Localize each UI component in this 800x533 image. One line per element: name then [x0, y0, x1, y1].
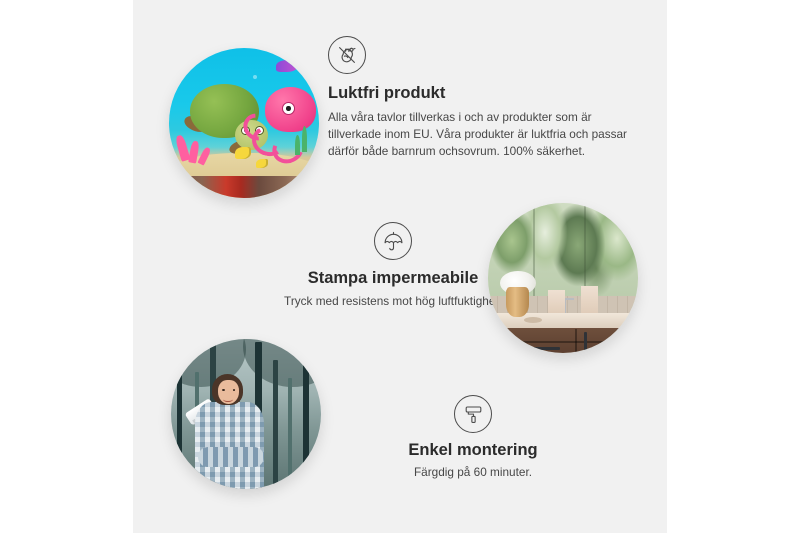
seaweed: [302, 126, 307, 152]
no-fragrance-icon: [328, 36, 366, 74]
person-smile: [223, 396, 234, 402]
bubble-icon: [253, 75, 257, 79]
underwater-cartoon-image: [169, 48, 319, 198]
octopus-eye: [282, 102, 295, 115]
person-folded-arms: [198, 447, 264, 467]
feature-icon-wrapper: [328, 395, 618, 433]
person-eye: [222, 389, 225, 391]
tree-trunk: [273, 360, 278, 489]
gold-vase: [506, 287, 529, 317]
tree-trunk: [303, 348, 309, 489]
purple-fish-icon: [276, 60, 299, 72]
tree-trunk: [177, 351, 182, 489]
painter-forest-image: [171, 339, 321, 489]
umbrella-icon: [374, 222, 412, 260]
paint-roller-icon: [454, 395, 492, 433]
person-plaid-shirt: [195, 402, 264, 489]
underwater-cartoon-disc: [169, 48, 319, 198]
content-canvas: Luktfri produkt Alla våra tavlor tillver…: [133, 0, 667, 533]
bathroom-leaf-wallpaper-disc: [488, 203, 638, 353]
yellow-striped-fish-icon: [235, 147, 251, 159]
ocean-bottom-strip: [169, 176, 319, 199]
tree-trunk: [288, 378, 292, 489]
drawer-handle: [527, 347, 560, 350]
feature-description: Färgdig på 60 minuter.: [328, 464, 618, 481]
feature-title: Luktfri produkt: [328, 83, 633, 104]
feature-block-odour-free: Luktfri produkt Alla våra tavlor tillver…: [328, 36, 633, 160]
painter-forest-mural-disc: [171, 339, 321, 489]
soap-dish: [524, 317, 542, 323]
door-handle: [620, 332, 623, 353]
feature-infographic-page: Luktfri produkt Alla våra tavlor tillver…: [0, 0, 800, 533]
person-eye: [233, 389, 236, 391]
feature-block-easy-mounting: Enkel montering Färgdig på 60 minuter.: [328, 395, 618, 481]
seaweed: [295, 135, 300, 155]
bathroom-image: [488, 203, 638, 353]
door-handle: [584, 332, 587, 353]
yellow-striped-fish-icon: [256, 159, 268, 168]
feature-title: Enkel montering: [328, 440, 618, 461]
vanity-door-seam: [575, 329, 577, 353]
wallpaper-seam: [533, 203, 535, 308]
feature-description: Alla våra tavlor tillverkas i och av pro…: [328, 109, 633, 160]
vanity-drawer-seam: [503, 341, 629, 343]
